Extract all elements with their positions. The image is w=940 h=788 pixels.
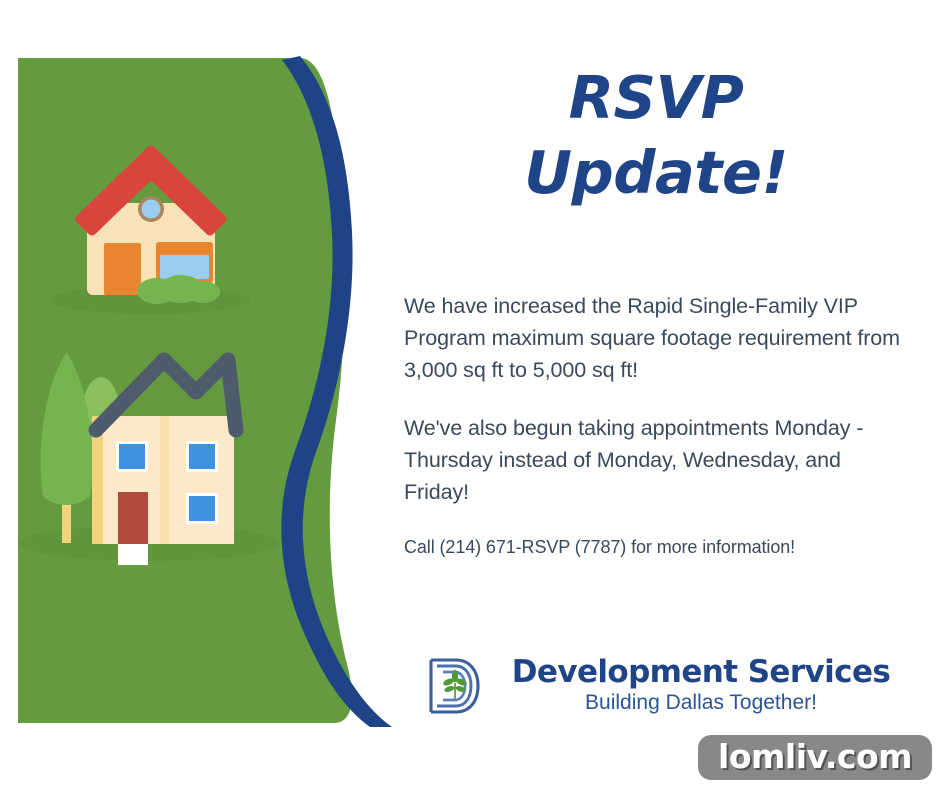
illustration-svg [0, 0, 420, 788]
announcement-paragraph-2: We've also begun taking appointments Mon… [404, 412, 904, 508]
headline-line-2: Update! [396, 141, 916, 206]
house-two-window-2-pane [189, 444, 215, 469]
announcement-paragraph-1: We have increased the Rapid Single-Famil… [404, 290, 904, 386]
brand-text-block: Development Services Building Dallas Tog… [502, 656, 906, 717]
illustration-panel [0, 0, 420, 788]
house-two-door [118, 492, 148, 544]
page-title: RSVP Update! [396, 66, 916, 206]
house-one-door [104, 243, 141, 295]
contact-callout: Call (214) 671-RSVP (7787) for more info… [404, 534, 904, 560]
house-two-window-3-pane [189, 496, 215, 521]
brand-tagline: Building Dallas Together! [502, 690, 900, 716]
house-two-door-step [118, 544, 148, 565]
brand-name: Development Services [502, 656, 900, 689]
brand-lockup: Development Services Building Dallas Tog… [426, 655, 906, 717]
house-two-wall-seam [160, 416, 169, 544]
watermark-badge: lomliv.com [698, 735, 932, 780]
dallas-development-services-d-leaf-logo [426, 655, 484, 717]
content-column: RSVP Update! We have increased the Rapid… [396, 0, 940, 788]
logo-svg [426, 655, 484, 717]
watermark-text: lomliv.com [718, 737, 912, 776]
house-two-window-1-pane [119, 444, 145, 469]
house-one-round-window-pane [142, 200, 161, 219]
announcement-body: We have increased the Rapid Single-Famil… [404, 290, 904, 560]
headline-line-1: RSVP [396, 66, 916, 131]
flyer-canvas: RSVP Update! We have increased the Rapid… [0, 0, 940, 788]
